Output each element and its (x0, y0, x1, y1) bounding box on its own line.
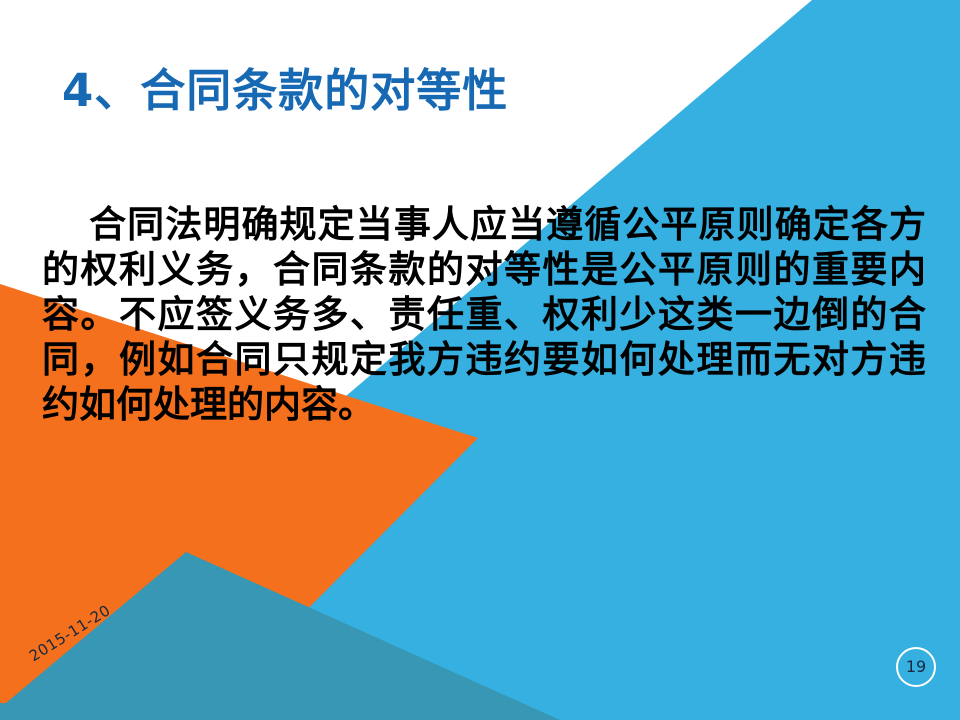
slide-canvas: 4、合同条款的对等性 合同法明确规定当事人应当遵循公平原则确定各方的权利义务，合… (0, 0, 960, 720)
body-block: 合同法明确规定当事人应当遵循公平原则确定各方的权利义务，合同条款的对等性是公平原… (42, 203, 926, 428)
page-number-badge: 19 (896, 647, 936, 687)
body-text: 合同法明确规定当事人应当遵循公平原则确定各方的权利义务，合同条款的对等性是公平原… (42, 205, 926, 426)
body-paragraph: 合同法明确规定当事人应当遵循公平原则确定各方的权利义务，合同条款的对等性是公平原… (42, 203, 926, 428)
page-number: 19 (906, 659, 926, 675)
title-block: 4、合同条款的对等性 (62, 62, 892, 120)
page-title: 4、合同条款的对等性 (62, 62, 892, 120)
